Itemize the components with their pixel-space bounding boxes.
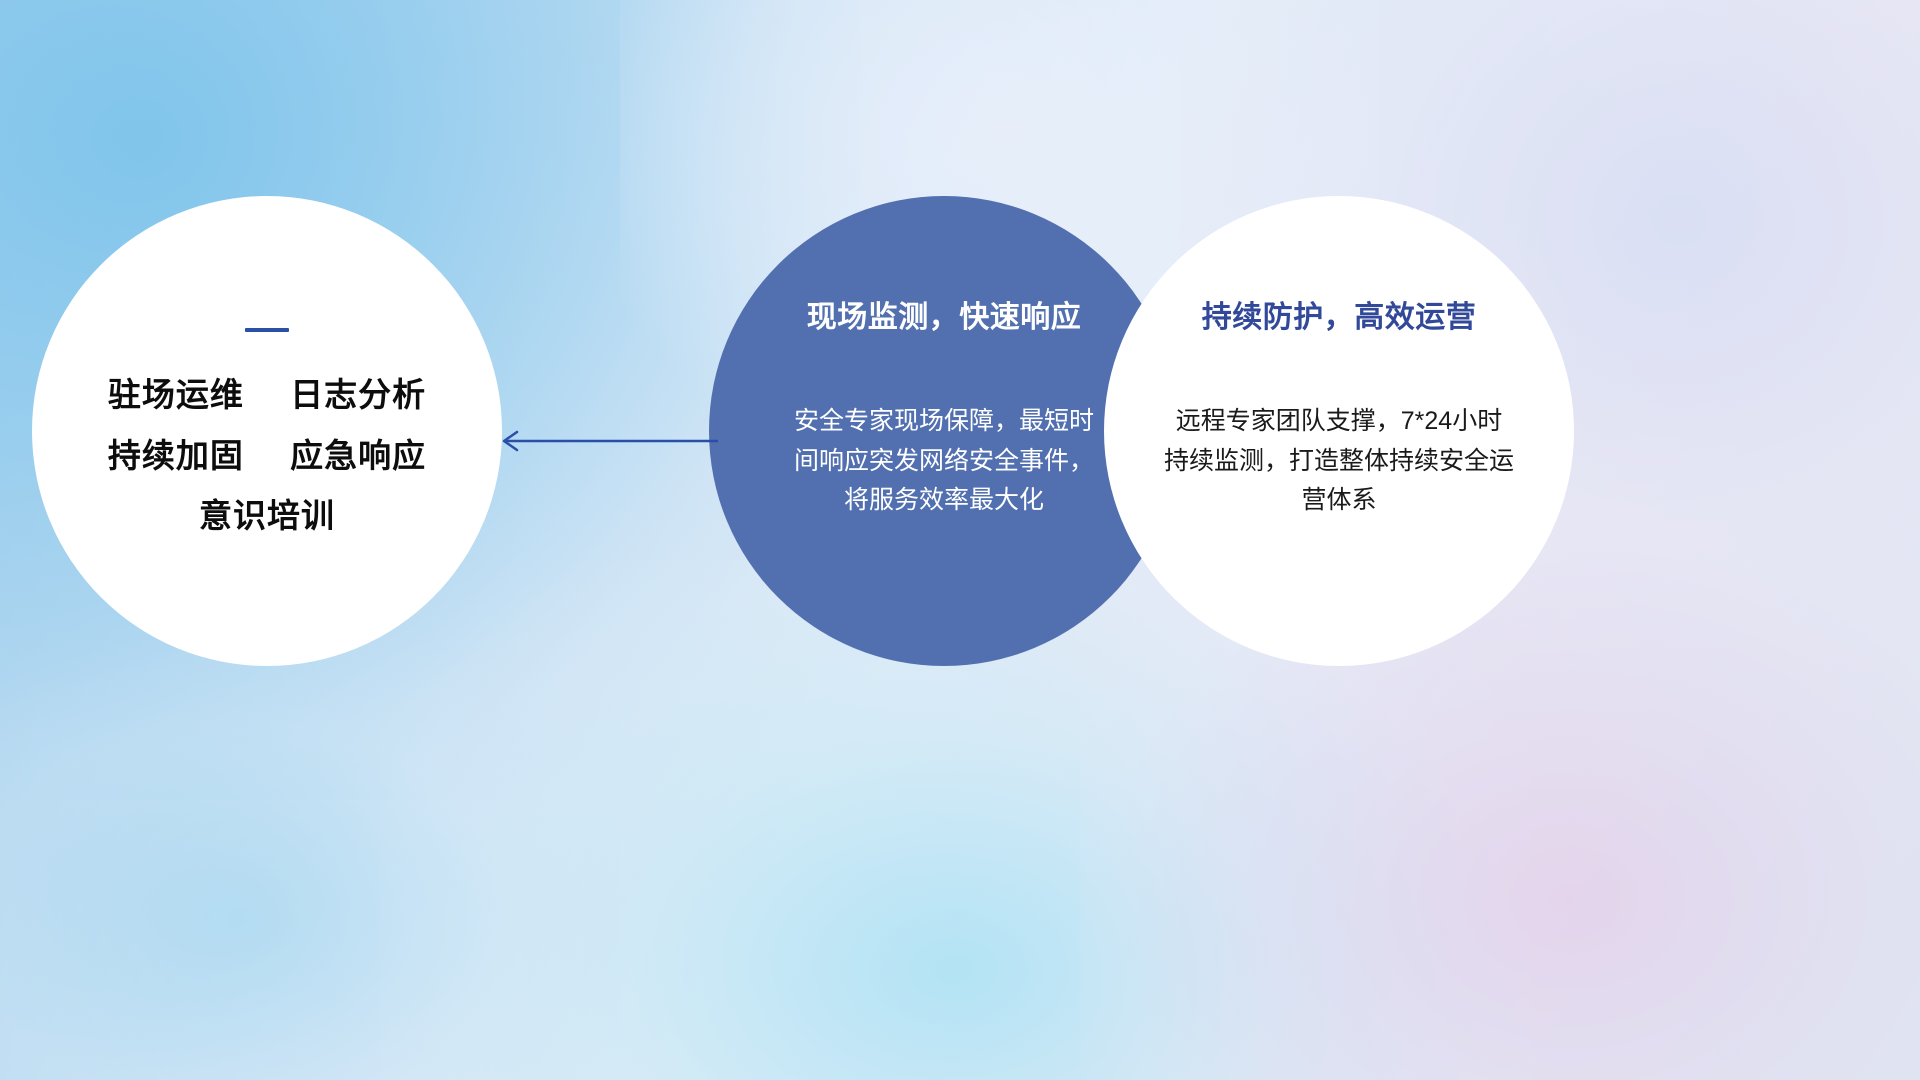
- right-circle-body: 远程专家团队支撑，7*24小时持续监测，打造整体持续安全运营体系: [1164, 402, 1514, 521]
- keyword-1-1: 驻场运维: [108, 376, 244, 413]
- left-circle-content: 驻场运维 日志分析 持续加固 应急响应 意识培训: [32, 196, 502, 666]
- right-circle-title: 持续防护，高效运营: [1202, 292, 1477, 336]
- keyword-row-2: 持续加固 应急响应: [108, 439, 426, 474]
- keyword-2-1: 持续加固: [108, 437, 244, 474]
- keyword-1-2: 日志分析: [290, 376, 426, 413]
- center-circle-body: 安全专家现场保障，最短时间响应突发网络安全事件，将服务效率最大化: [794, 402, 1094, 521]
- left-circle-divider: [245, 328, 289, 332]
- keyword-row-1: 驻场运维 日志分析: [108, 378, 426, 413]
- right-circle-content: 持续防护，高效运营 远程专家团队支撑，7*24小时持续监测，打造整体持续安全运营…: [1104, 196, 1574, 666]
- keyword-2-2: 应急响应: [290, 437, 426, 474]
- center-circle-title: 现场监测，快速响应: [807, 292, 1082, 336]
- slide-canvas: 驻场运维 日志分析 持续加固 应急响应 意识培训 现场监测，快速响应 安全专家现…: [0, 0, 1920, 1080]
- background-glow-bottom-left: [0, 640, 620, 1080]
- left-pointing-arrow-icon: [490, 418, 720, 464]
- keyword-row-3: 意识培训: [199, 499, 335, 534]
- keyword-3-1: 意识培训: [199, 497, 335, 534]
